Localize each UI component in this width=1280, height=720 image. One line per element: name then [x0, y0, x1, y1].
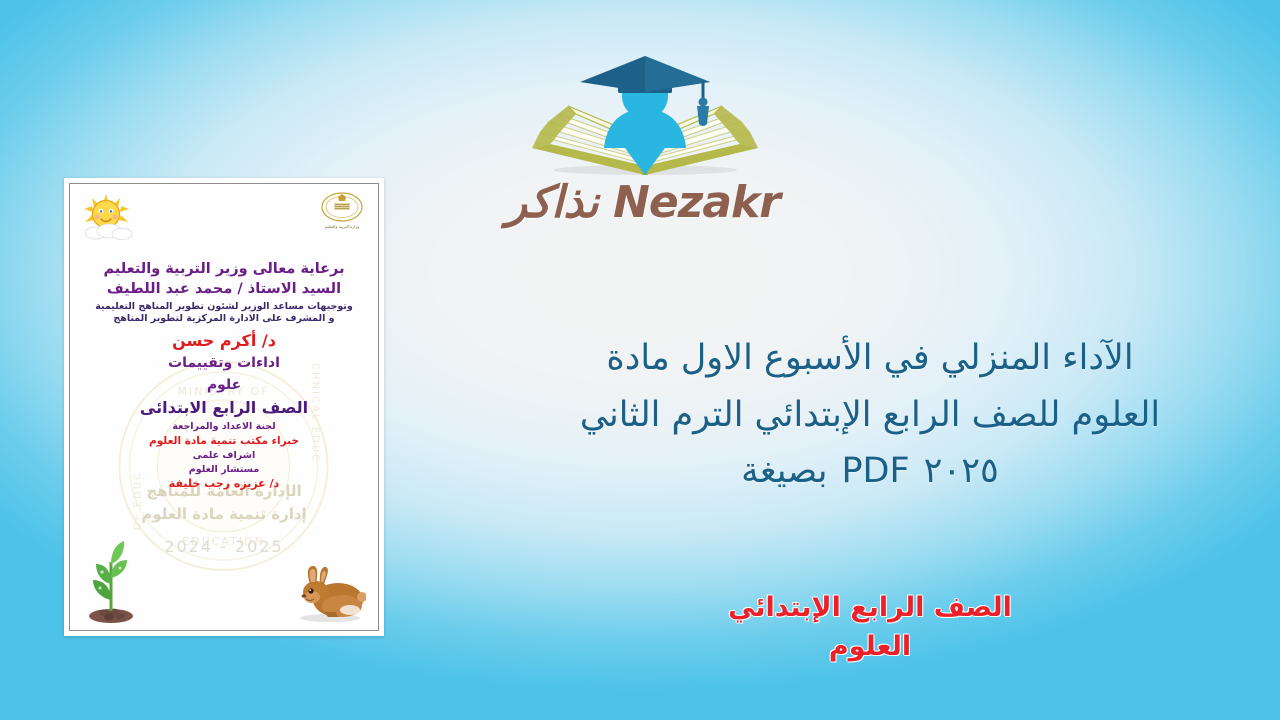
page-subtitle: الصف الرابع الإبتدائي العلوم	[540, 588, 1200, 666]
page-title: الآداء المنزلي في الأسبوع الاول مادة الع…	[540, 330, 1200, 500]
headline-format-latin: PDF	[827, 451, 923, 491]
page-stage: Nezakr نذاكر MINISTRY OF EDUCATION OF ED…	[0, 0, 1280, 720]
brand-wordmark: Nezakr نذاكر	[510, 181, 780, 225]
sun-icon	[80, 192, 136, 242]
doc-line-6: اداءات وتقييمات	[80, 355, 368, 373]
doc-line-9: لجنة الاعداد والمراجعة	[80, 421, 368, 433]
subtitle-grade: الصف الرابع الإبتدائي	[540, 588, 1200, 627]
ministry-seal-icon: وزارة التربية والتعليم	[316, 190, 368, 234]
doc-line-1: برعاية معالى وزير التربية والتعليم	[80, 260, 368, 278]
doc-line-2: السيد الاستاذ / محمد عبد اللطيف	[80, 280, 368, 298]
site-logo[interactable]: Nezakr نذاكر	[510, 48, 780, 238]
document-page: MINISTRY OF EDUCATION OF EDUC CHNICAL ED…	[69, 183, 379, 631]
rabbit-icon	[294, 564, 366, 622]
document-thumbnail[interactable]: MINISTRY OF EDUCATION OF EDUC CHNICAL ED…	[64, 178, 384, 636]
watermark-line-2: إدارة تنمية مادة العلوم	[70, 503, 378, 526]
graduation-book-logo-icon	[510, 48, 780, 183]
doc-line-11: اشراف علمى	[80, 450, 368, 462]
doc-line-8: الصف الرابع الابتدائى	[80, 398, 368, 418]
headline-line-1: الآداء المنزلي في الأسبوع الاول مادة	[540, 330, 1200, 387]
headline-line-2: العلوم للصف الرابع الإبتدائي الترم الثان…	[540, 387, 1200, 444]
doc-line-12: مستشار العلوم	[80, 464, 368, 476]
doc-line-4: و المشرف على الادارة المركزية لتطوير الم…	[80, 313, 368, 325]
doc-line-10: خبراء مكتب تنمية مادة العلوم	[80, 435, 368, 448]
doc-line-13: د/ عزيزه رجب خليفة	[80, 477, 368, 491]
document-text-block: برعاية معالى وزير التربية والتعليم السيد…	[80, 260, 368, 491]
headline-line-3: PDF٢٠٢٥بصيغة	[540, 443, 1200, 500]
doc-line-5: د/ أكرم حسن	[80, 331, 368, 351]
subtitle-subject: العلوم	[540, 627, 1200, 666]
doc-line-3: وتوجيهات مساعد الوزير لشئون تطوير المناه…	[80, 301, 368, 313]
doc-line-7: علوم	[80, 377, 368, 395]
seedling-plant-icon	[80, 538, 142, 624]
svg-text:وزارة التربية والتعليم: وزارة التربية والتعليم	[325, 224, 359, 229]
